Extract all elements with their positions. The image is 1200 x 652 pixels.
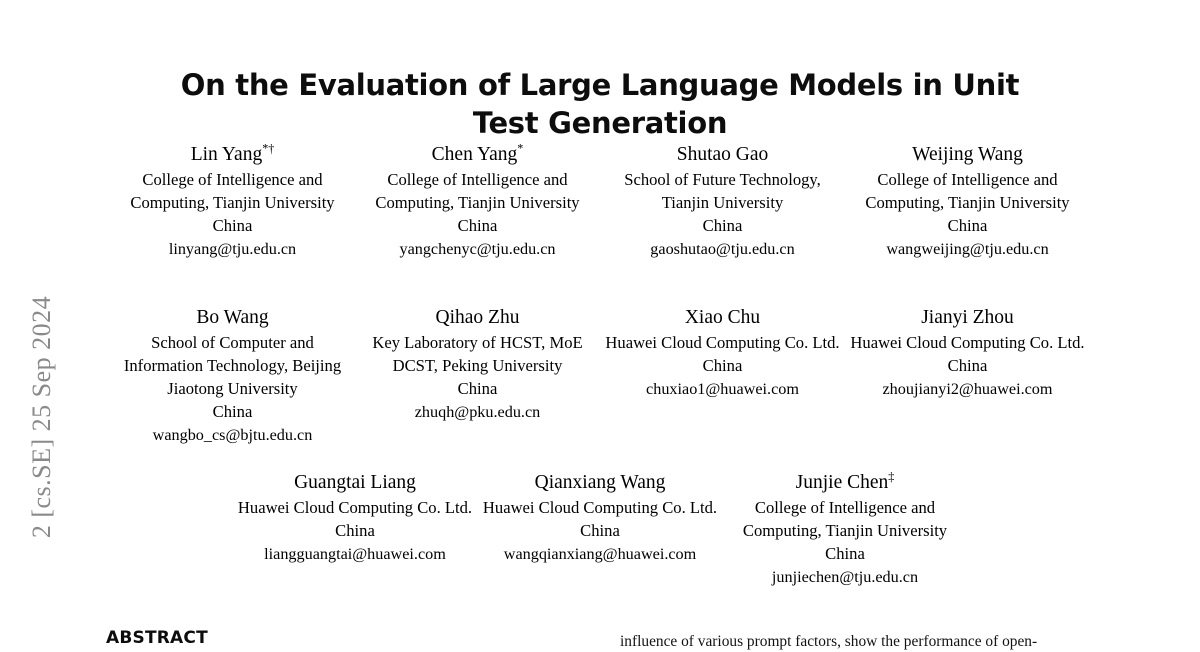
page-title: On the Evaluation of Large Language Mode… bbox=[150, 67, 1050, 141]
author-email: chuxiao1@huawei.com bbox=[603, 378, 842, 400]
author-row-3: Guangtai Liang Huawei Cloud Computing Co… bbox=[230, 471, 970, 588]
author-name-text: Qihao Zhu bbox=[436, 307, 520, 328]
author-name: Weijing Wang bbox=[848, 143, 1087, 167]
author-email: junjiechen@tju.edu.cn bbox=[726, 566, 965, 588]
paper-page: 2 [cs.SE] 25 Sep 2024 On the Evaluation … bbox=[0, 0, 1200, 648]
author-name-text: Qianxiang Wang bbox=[535, 472, 666, 493]
author-affiliation: College of Intelligence and Computing, T… bbox=[726, 497, 965, 543]
author-country: China bbox=[358, 215, 597, 238]
arxiv-identifier-stamp: 2 [cs.SE] 25 Sep 2024 bbox=[27, 207, 57, 627]
author-affiliation: Huawei Cloud Computing Co. Ltd. bbox=[481, 497, 720, 520]
author-email: wangweijing@tju.edu.cn bbox=[848, 238, 1087, 260]
author-affiliation: Huawei Cloud Computing Co. Ltd. bbox=[236, 497, 475, 520]
author-block: Shutao Gao School of Future Technology, … bbox=[600, 143, 845, 260]
author-block: Qihao Zhu Key Laboratory of HCST, MoE DC… bbox=[355, 306, 600, 446]
author-affiliation: School of Computer and Information Techn… bbox=[113, 332, 352, 401]
author-country: China bbox=[848, 215, 1087, 238]
author-country: China bbox=[113, 215, 352, 238]
author-name: Xiao Chu bbox=[603, 306, 842, 330]
author-name: Chen Yang* bbox=[358, 143, 597, 167]
author-marker: *† bbox=[262, 142, 274, 156]
author-block: Qianxiang Wang Huawei Cloud Computing Co… bbox=[478, 471, 723, 588]
author-name-text: Junjie Chen bbox=[796, 472, 889, 493]
author-country: China bbox=[726, 543, 965, 566]
author-name: Junjie Chen‡ bbox=[726, 471, 965, 495]
author-marker: ‡ bbox=[888, 470, 894, 484]
author-country: China bbox=[358, 378, 597, 401]
author-name: Qianxiang Wang bbox=[481, 471, 720, 495]
author-email: linyang@tju.edu.cn bbox=[113, 238, 352, 260]
author-country: China bbox=[603, 355, 842, 378]
author-email: zhuqh@pku.edu.cn bbox=[358, 401, 597, 423]
author-block: Guangtai Liang Huawei Cloud Computing Co… bbox=[233, 471, 478, 588]
author-block: Junjie Chen‡ College of Intelligence and… bbox=[723, 471, 968, 588]
author-block: Jianyi Zhou Huawei Cloud Computing Co. L… bbox=[845, 306, 1090, 446]
author-name-text: Bo Wang bbox=[196, 307, 268, 328]
author-country: China bbox=[603, 215, 842, 238]
author-email: wangqianxiang@huawei.com bbox=[481, 543, 720, 565]
author-name-text: Shutao Gao bbox=[677, 144, 769, 165]
author-name: Qihao Zhu bbox=[358, 306, 597, 330]
author-affiliation: Huawei Cloud Computing Co. Ltd. bbox=[603, 332, 842, 355]
author-name-text: Weijing Wang bbox=[912, 144, 1023, 165]
author-block: Lin Yang*† College of Intelligence and C… bbox=[110, 143, 355, 260]
author-affiliation: College of Intelligence and Computing, T… bbox=[848, 169, 1087, 215]
author-name-text: Jianyi Zhou bbox=[921, 307, 1014, 328]
author-affiliation: College of Intelligence and Computing, T… bbox=[358, 169, 597, 215]
author-email: liangguangtai@huawei.com bbox=[236, 543, 475, 565]
author-country: China bbox=[848, 355, 1087, 378]
abstract-heading: ABSTRACT bbox=[106, 628, 208, 648]
abstract-right-column-text: influence of various prompt factors, sho… bbox=[620, 632, 1095, 652]
author-affiliation: School of Future Technology, Tianjin Uni… bbox=[603, 169, 842, 215]
author-name: Guangtai Liang bbox=[236, 471, 475, 495]
author-block: Chen Yang* College of Intelligence and C… bbox=[355, 143, 600, 260]
author-email: wangbo_cs@bjtu.edu.cn bbox=[113, 424, 352, 446]
author-affiliation: College of Intelligence and Computing, T… bbox=[113, 169, 352, 215]
author-name-text: Guangtai Liang bbox=[294, 472, 416, 493]
author-name: Bo Wang bbox=[113, 306, 352, 330]
author-row-1: Lin Yang*† College of Intelligence and C… bbox=[110, 143, 1090, 260]
author-marker: * bbox=[517, 142, 523, 156]
author-block: Weijing Wang College of Intelligence and… bbox=[845, 143, 1090, 260]
author-row-2: Bo Wang School of Computer and Informati… bbox=[110, 306, 1090, 446]
author-affiliation: Key Laboratory of HCST, MoE DCST, Peking… bbox=[358, 332, 597, 378]
author-name: Jianyi Zhou bbox=[848, 306, 1087, 330]
author-email: zhoujianyi2@huawei.com bbox=[848, 378, 1087, 400]
author-country: China bbox=[113, 401, 352, 424]
author-country: China bbox=[481, 520, 720, 543]
author-name-text: Chen Yang bbox=[432, 144, 518, 165]
author-name-text: Xiao Chu bbox=[685, 307, 760, 328]
author-block: Xiao Chu Huawei Cloud Computing Co. Ltd.… bbox=[600, 306, 845, 446]
author-affiliation: Huawei Cloud Computing Co. Ltd. bbox=[848, 332, 1087, 355]
author-name: Shutao Gao bbox=[603, 143, 842, 167]
author-email: yangchenyc@tju.edu.cn bbox=[358, 238, 597, 260]
author-name: Lin Yang*† bbox=[113, 143, 352, 167]
author-block: Bo Wang School of Computer and Informati… bbox=[110, 306, 355, 446]
author-country: China bbox=[236, 520, 475, 543]
author-email: gaoshutao@tju.edu.cn bbox=[603, 238, 842, 260]
author-name-text: Lin Yang bbox=[191, 144, 263, 165]
